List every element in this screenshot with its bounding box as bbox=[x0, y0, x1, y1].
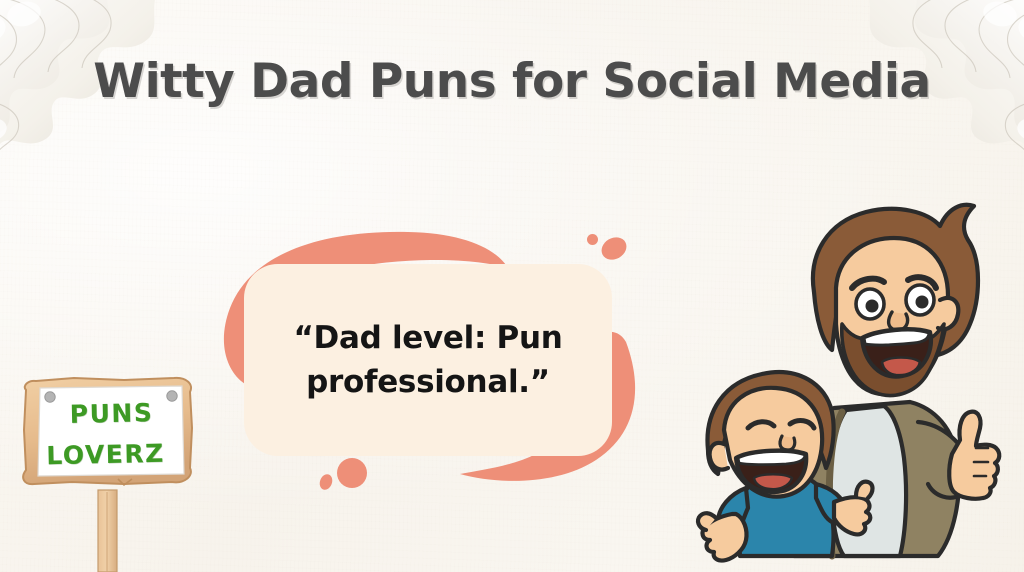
quote-card-block: “Dad level: Pun professional.” bbox=[196, 222, 656, 502]
sign-text-line-1: PUNS bbox=[14, 397, 210, 430]
quote-card: “Dad level: Pun professional.” bbox=[244, 264, 612, 456]
sign-text-line-2: LOVERZ bbox=[8, 438, 204, 471]
dad-and-son-illustration bbox=[686, 196, 1016, 572]
quote-text: “Dad level: Pun professional.” bbox=[277, 316, 578, 404]
dot-bottom-left-large bbox=[337, 458, 367, 488]
dot-top-right-small bbox=[587, 234, 598, 245]
quote-line-1: “Dad level: Pun bbox=[293, 320, 562, 356]
quote-line-2: professional.” bbox=[306, 364, 550, 400]
page-title: Witty Dad Puns for Social Media bbox=[0, 54, 1024, 109]
puns-loverz-sign: PUNS LOVERZ bbox=[14, 372, 209, 572]
poster-canvas: Witty Dad Puns for Social Media “Dad lev… bbox=[0, 0, 1024, 572]
